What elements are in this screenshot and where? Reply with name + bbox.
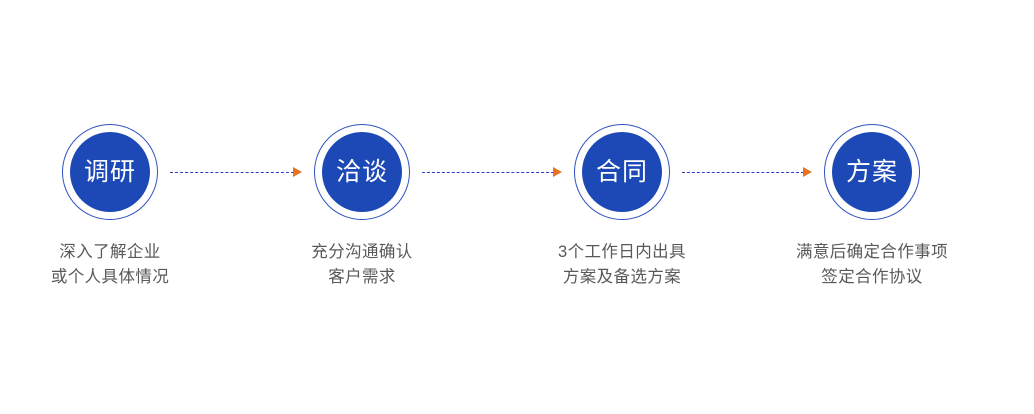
step-3-caption-line-1: 3个工作日内出具 <box>512 240 732 265</box>
step-1-circle: 调研 <box>62 124 158 220</box>
step-2-label: 洽谈 <box>336 160 388 185</box>
step-1-disc: 调研 <box>70 132 150 212</box>
step-2-caption-line-1: 充分沟通确认 <box>252 240 472 265</box>
step-2-caption-line-2: 客户需求 <box>252 265 472 290</box>
step-1-label: 调研 <box>84 160 136 185</box>
step-4-caption-line-2: 签定合作协议 <box>762 265 982 290</box>
step-3-caption-line-2: 方案及备选方案 <box>512 265 732 290</box>
step-3-disc: 合同 <box>582 132 662 212</box>
process-step-3: 合同 3个工作日内出具 方案及备选方案 <box>512 124 732 290</box>
step-3-circle: 合同 <box>574 124 670 220</box>
step-2-caption: 充分沟通确认 客户需求 <box>252 240 472 290</box>
step-4-label: 方案 <box>846 160 898 185</box>
step-4-circle: 方案 <box>824 124 920 220</box>
step-2-circle: 洽谈 <box>314 124 410 220</box>
step-1-caption-line-1: 深入了解企业 <box>0 240 220 265</box>
step-2-disc: 洽谈 <box>322 132 402 212</box>
step-1-caption: 深入了解企业 或个人具体情况 <box>0 240 220 290</box>
process-flow-diagram: 调研 深入了解企业 或个人具体情况 洽谈 充分沟通确认 客户需求 合同 <box>0 0 1034 414</box>
process-step-4: 方案 满意后确定合作事项 签定合作协议 <box>762 124 982 290</box>
step-4-caption-line-1: 满意后确定合作事项 <box>762 240 982 265</box>
step-3-label: 合同 <box>596 160 648 185</box>
process-step-2: 洽谈 充分沟通确认 客户需求 <box>252 124 472 290</box>
step-1-caption-line-2: 或个人具体情况 <box>0 265 220 290</box>
process-step-1: 调研 深入了解企业 或个人具体情况 <box>0 124 220 290</box>
step-4-disc: 方案 <box>832 132 912 212</box>
step-4-caption: 满意后确定合作事项 签定合作协议 <box>762 240 982 290</box>
step-3-caption: 3个工作日内出具 方案及备选方案 <box>512 240 732 290</box>
